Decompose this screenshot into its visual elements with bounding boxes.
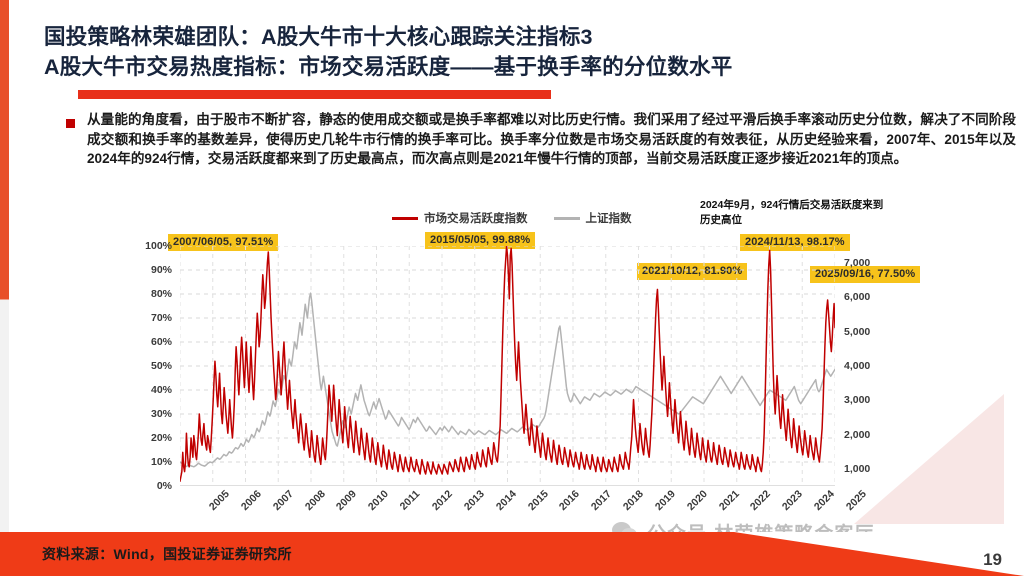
x-axis-tick: 2007 — [271, 488, 296, 513]
legend-swatch-index — [554, 217, 580, 220]
x-axis-tick: 2016 — [557, 488, 582, 513]
y-axis-left-tick: 60% — [151, 336, 172, 348]
y-axis-right-tick: 1,000 — [844, 463, 870, 475]
y-axis-right-labels: 1,0002,0003,0004,0005,0006,0007,000 — [840, 246, 892, 486]
y-axis-right-tick: 6,000 — [844, 291, 870, 303]
y-axis-left-tick: 50% — [151, 360, 172, 372]
chart-note: 2024年9月，924行情后交易活跃度来到历史高位 — [700, 198, 890, 228]
y-axis-left-tick: 0% — [157, 480, 172, 492]
y-axis-left-labels: 0%10%20%30%40%50%60%70%80%90%100% — [120, 246, 172, 486]
y-axis-left-tick: 20% — [151, 432, 172, 444]
slide-root: 国投策略林荣雄团队：A股大牛市十大核心跟踪关注指标3 A股大牛市交易热度指标：市… — [0, 0, 1024, 576]
y-axis-left-tick: 80% — [151, 288, 172, 300]
x-axis-tick: 2020 — [685, 488, 710, 513]
y-axis-right-tick: 7,000 — [844, 257, 870, 269]
y-axis-left-tick: 70% — [151, 312, 172, 324]
title-underline — [78, 90, 551, 99]
x-axis-tick: 2014 — [493, 488, 518, 513]
x-axis-tick: 2012 — [430, 488, 455, 513]
chart-legend: 市场交易活跃度指数 上证指数 — [392, 210, 632, 226]
y-axis-left-tick: 100% — [145, 240, 172, 252]
y-axis-left-tick: 40% — [151, 384, 172, 396]
chart-svg — [180, 246, 835, 486]
legend-item-activity: 市场交易活跃度指数 — [392, 210, 528, 226]
x-axis-tick: 2021 — [716, 488, 741, 513]
body-paragraph: 从量能的角度看，由于股市不断扩容，静态的使用成交额或是换手率都难以对比历史行情。… — [87, 110, 1016, 169]
y-axis-right-tick: 4,000 — [844, 360, 870, 372]
x-axis-tick: 2022 — [748, 488, 773, 513]
y-axis-right-tick: 2,000 — [844, 429, 870, 441]
y-axis-left-tick: 90% — [151, 264, 172, 276]
legend-label-activity: 市场交易活跃度指数 — [424, 210, 528, 226]
x-axis-tick: 2010 — [366, 488, 391, 513]
legend-swatch-activity — [392, 217, 418, 220]
x-axis-tick: 2019 — [653, 488, 678, 513]
x-axis-tick: 2006 — [239, 488, 264, 513]
bullet-square-icon — [66, 119, 75, 128]
left-accent-bar — [0, 0, 9, 576]
chart-plot-area — [180, 246, 835, 486]
title-line-1: 国投策略林荣雄团队：A股大牛市十大核心跟踪关注指标3 — [44, 22, 1016, 52]
body-bullet-row: 从量能的角度看，由于股市不断扩容，静态的使用成交额或是换手率都难以对比历史行情。… — [66, 110, 1016, 169]
legend-label-index: 上证指数 — [586, 210, 632, 226]
activity-index-chart: 市场交易活跃度指数 上证指数 2024年9月，924行情后交易活跃度来到历史高位… — [120, 198, 910, 528]
page-number: 19 — [983, 550, 1002, 570]
legend-item-index: 上证指数 — [554, 210, 632, 226]
x-axis-tick: 2011 — [398, 488, 423, 513]
y-axis-right-tick: 3,000 — [844, 394, 870, 406]
y-axis-left-tick: 30% — [151, 408, 172, 420]
x-axis-tick: 2025 — [844, 488, 869, 513]
y-axis-left-tick: 10% — [151, 456, 172, 468]
x-axis-tick: 2017 — [589, 488, 614, 513]
x-axis-tick: 2015 — [525, 488, 550, 513]
source-text: 资料来源：Wind，国投证券证券研究所 — [42, 544, 292, 564]
x-axis-labels: 2005200620072008200920102011201220132014… — [180, 488, 835, 528]
x-axis-tick: 2008 — [302, 488, 327, 513]
x-axis-tick: 2023 — [780, 488, 805, 513]
title-line-2: A股大牛市交易热度指标：市场交易活跃度——基于换手率的分位数水平 — [44, 52, 1016, 82]
page-title: 国投策略林荣雄团队：A股大牛市十大核心跟踪关注指标3 A股大牛市交易热度指标：市… — [44, 22, 1016, 82]
x-axis-tick: 2024 — [812, 488, 837, 513]
x-axis-tick: 2009 — [334, 488, 359, 513]
x-axis-tick: 2005 — [207, 488, 232, 513]
x-axis-tick: 2018 — [621, 488, 646, 513]
y-axis-right-tick: 5,000 — [844, 326, 870, 338]
x-axis-tick: 2013 — [462, 488, 487, 513]
